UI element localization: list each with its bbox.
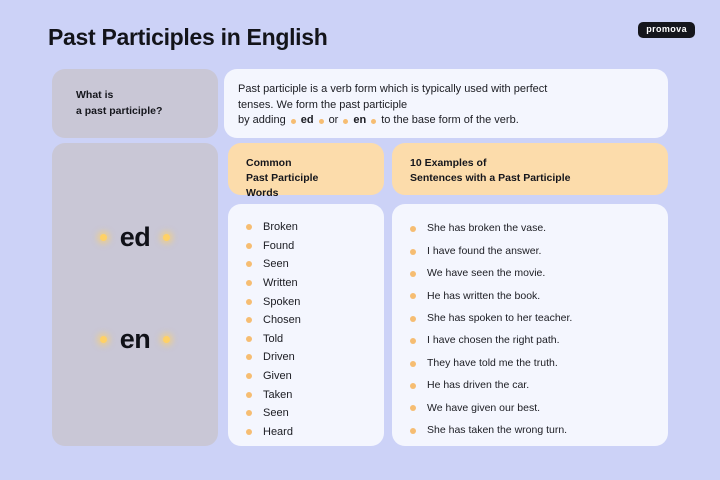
word-list-item-label: Heard (263, 426, 293, 438)
sentence-list-item: He has written the book. (410, 285, 656, 307)
sentence-list-item: I have chosen the right path. (410, 330, 656, 352)
chip-en-label: en (353, 113, 366, 129)
sentence-list-item-label: I have chosen the right path. (427, 335, 560, 347)
bullet-dot-icon (410, 361, 416, 367)
glow-dot-icon (100, 234, 107, 241)
description-card: Past participle is a verb form which is … (224, 69, 668, 138)
description-line-1: Past participle is a verb form which is … (238, 82, 652, 98)
sentence-list-item: He has driven the car. (410, 375, 656, 397)
words-list: BrokenFoundSeenWrittenSpokenChosenToldDr… (228, 204, 384, 446)
sentence-list-item-label: We have given our best. (427, 403, 540, 415)
word-list-item: Seen (246, 404, 372, 423)
bullet-dot-icon (246, 243, 252, 249)
sentence-list-item-label: We have seen the movie. (427, 268, 545, 280)
description-suffix: to the base form of the verb. (381, 113, 519, 129)
question-card: What is a past participle? (52, 69, 218, 138)
suffix-item-en: en (52, 324, 218, 355)
bullet-dot-icon (410, 383, 416, 389)
brand-logo: promova (638, 22, 695, 38)
sentence-list-item: We have given our best. (410, 397, 656, 419)
sentence-list-item-label: They have told me the truth. (427, 358, 558, 370)
bullet-dot-icon (246, 280, 252, 286)
bullet-dot-icon (246, 410, 252, 416)
bullet-dot-icon (410, 293, 416, 299)
bullet-dot-icon (246, 299, 252, 305)
dot-icon (343, 119, 348, 124)
word-list-item: Told (246, 330, 372, 349)
bullet-dot-icon (410, 338, 416, 344)
bullet-dot-icon (410, 226, 416, 232)
suffix-label-en: en (120, 324, 151, 355)
bullet-dot-icon (410, 405, 416, 411)
description-line-3: by adding ed or en to the base form of t… (238, 113, 652, 129)
bullet-dot-icon (246, 261, 252, 267)
word-list-item: Spoken (246, 292, 372, 311)
page-title: Past Participles in English (48, 24, 328, 51)
suffix-panel: ed en (52, 143, 218, 446)
words-column: Common Past Participle Words BrokenFound… (228, 143, 384, 446)
bullet-dot-icon (246, 392, 252, 398)
bullet-dot-icon (410, 428, 416, 434)
bullet-dot-icon (410, 249, 416, 255)
sentences-column-header-label: 10 Examples of Sentences with a Past Par… (410, 156, 654, 186)
bullet-dot-icon (410, 271, 416, 277)
sentences-column: 10 Examples of Sentences with a Past Par… (392, 143, 668, 446)
words-column-header-label: Common Past Participle Words (246, 156, 370, 202)
word-list-item: Broken (246, 218, 372, 237)
suffix-label-ed: ed (120, 222, 151, 253)
sentence-list-item-label: She has taken the wrong turn. (427, 425, 567, 437)
words-column-header: Common Past Participle Words (228, 143, 384, 195)
description-line-2: tenses. We form the past participle (238, 98, 652, 114)
bullet-dot-icon (246, 336, 252, 342)
sentence-list-item: She has spoken to her teacher. (410, 308, 656, 330)
suffix-chip-ed: ed (291, 113, 324, 129)
dot-icon (319, 119, 324, 124)
sentence-list-item: She has broken the vase. (410, 218, 656, 240)
word-list-item: Heard (246, 423, 372, 442)
bullet-dot-icon (246, 224, 252, 230)
bullet-dot-icon (246, 317, 252, 323)
word-list-item: Written (246, 274, 372, 293)
word-list-item-label: Written (263, 277, 298, 289)
bullet-dot-icon (410, 316, 416, 322)
word-list-item-label: Driven (263, 351, 295, 363)
dot-icon (291, 119, 296, 124)
word-list-item: Driven (246, 348, 372, 367)
sentence-list-item: She has taken the wrong turn. (410, 420, 656, 442)
bullet-dot-icon (246, 429, 252, 435)
sentences-list: She has broken the vase.I have found the… (392, 204, 668, 446)
sentence-list-item-label: I have found the answer. (427, 246, 541, 258)
sentence-list-item: We have seen the movie. (410, 263, 656, 285)
word-list-item-label: Told (263, 333, 283, 345)
sentence-list-item-label: He has written the book. (427, 291, 540, 303)
bullet-dot-icon (246, 354, 252, 360)
word-list-item: Found (246, 237, 372, 256)
description-conjunction: or (329, 113, 339, 129)
word-list-item-label: Chosen (263, 314, 301, 326)
word-list-item-label: Taken (263, 389, 292, 401)
sentence-list-item: I have found the answer. (410, 240, 656, 262)
word-list-item-label: Broken (263, 221, 298, 233)
word-list-item: Taken (246, 385, 372, 404)
sentence-list-item-label: She has broken the vase. (427, 223, 546, 235)
word-list-item: Chosen (246, 311, 372, 330)
question-label: What is a past participle? (76, 88, 162, 118)
word-list-item-label: Found (263, 240, 294, 252)
dot-icon (371, 119, 376, 124)
word-list-item-label: Spoken (263, 296, 300, 308)
sentence-list-item: They have told me the truth. (410, 352, 656, 374)
glow-dot-icon (163, 336, 170, 343)
word-list-item: Seen (246, 255, 372, 274)
chip-ed-label: ed (301, 113, 314, 129)
sentence-list-item-label: He has driven the car. (427, 380, 529, 392)
description-prefix: by adding (238, 113, 286, 129)
suffix-item-ed: ed (52, 222, 218, 253)
suffix-chip-en: en (343, 113, 376, 129)
word-list-item-label: Given (263, 370, 292, 382)
bullet-dot-icon (246, 373, 252, 379)
sentence-list-item-label: She has spoken to her teacher. (427, 313, 572, 325)
word-list-item: Given (246, 367, 372, 386)
word-list-item-label: Seen (263, 258, 289, 270)
word-list-item-label: Seen (263, 407, 289, 419)
glow-dot-icon (163, 234, 170, 241)
sentences-column-header: 10 Examples of Sentences with a Past Par… (392, 143, 668, 195)
glow-dot-icon (100, 336, 107, 343)
